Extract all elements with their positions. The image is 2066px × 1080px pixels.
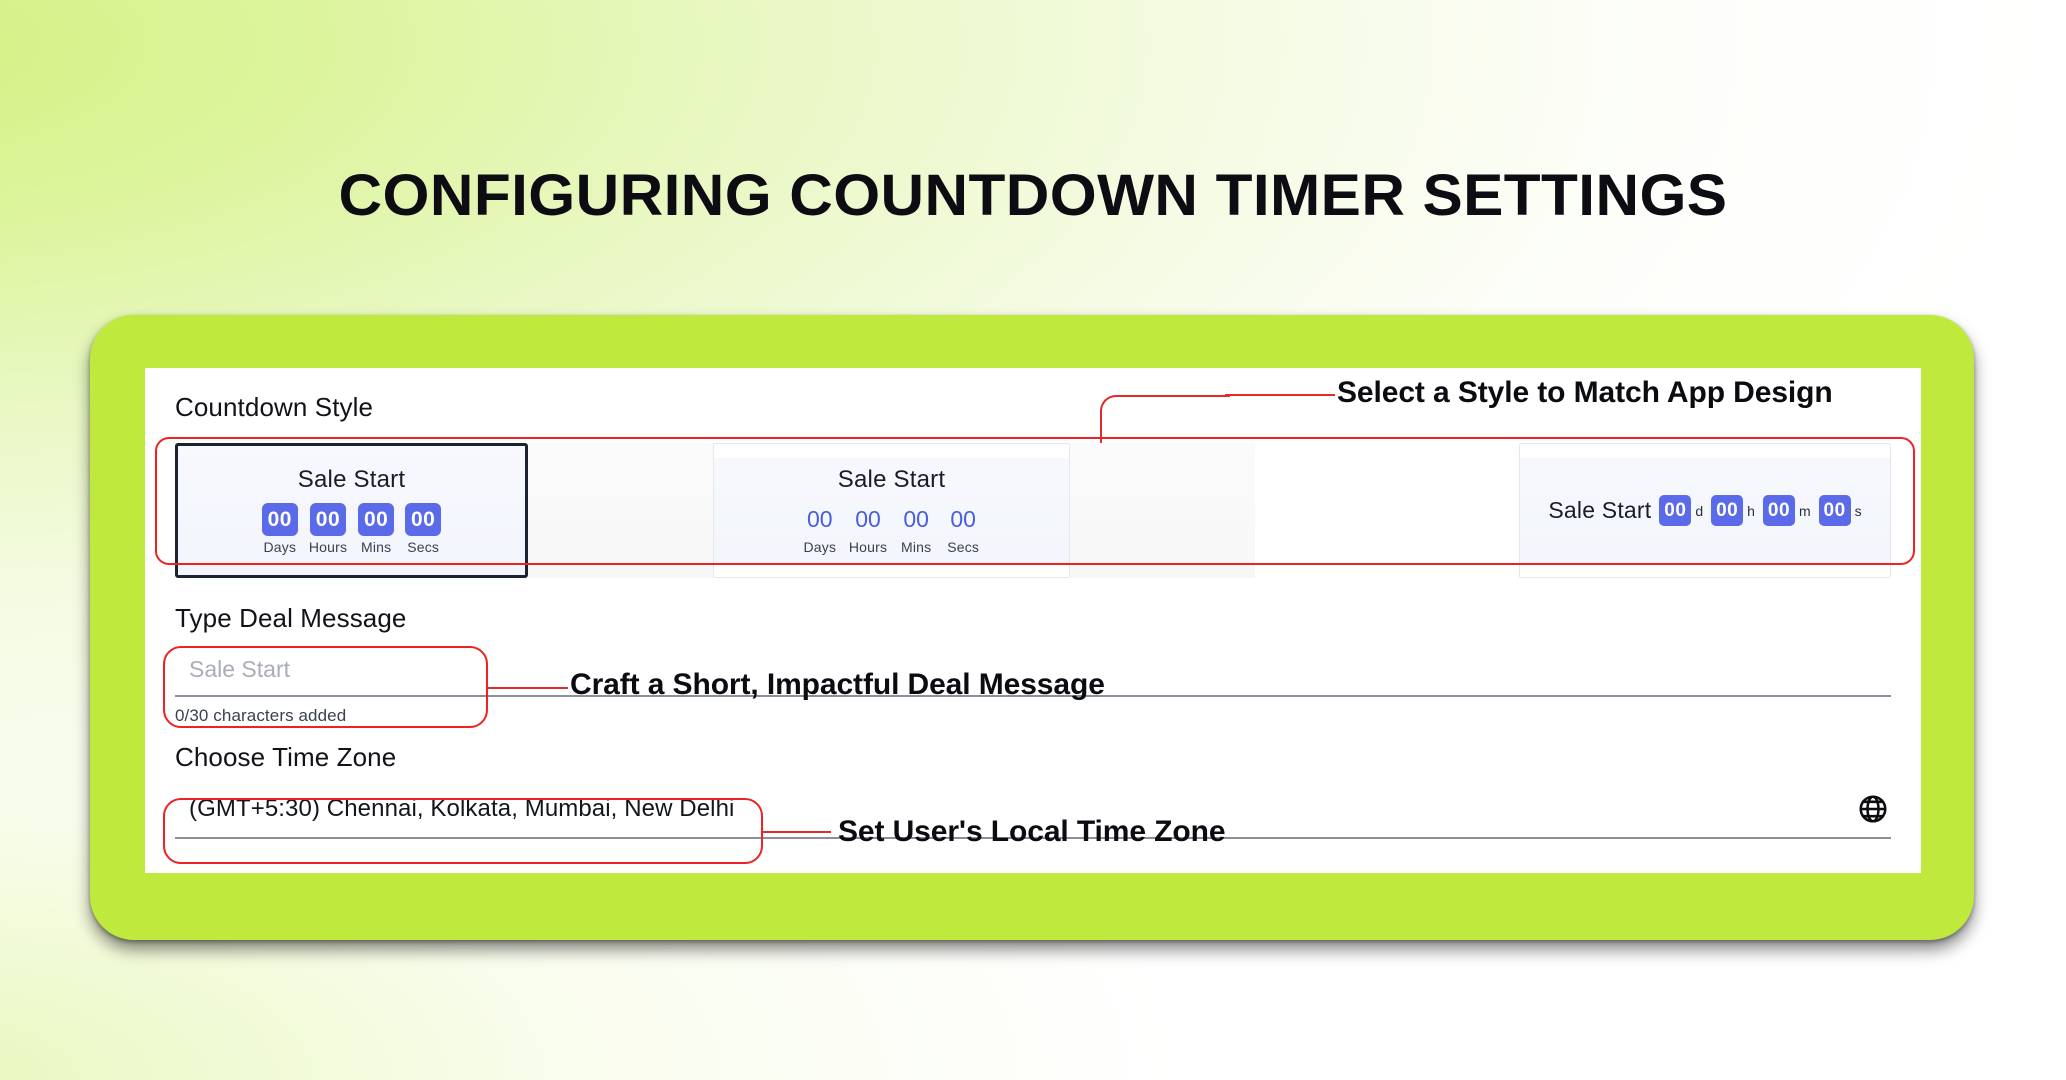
style-preview: Sale Start 00 Days 00 Hours 00 Mins xyxy=(714,458,1069,563)
globe-icon[interactable] xyxy=(1857,793,1889,825)
unit-value: 00 xyxy=(898,503,934,536)
unit-value: 00 xyxy=(262,503,298,536)
deal-message-counter: 0/30 characters added xyxy=(175,706,1891,726)
unit-value: 00 xyxy=(310,503,346,536)
page-title: CONFIGURING COUNTDOWN TIMER SETTINGS xyxy=(0,162,2066,229)
style-option-gap xyxy=(1070,443,1255,578)
style-preview-title: Sale Start xyxy=(838,466,945,494)
unit-hours: 00 h xyxy=(1711,495,1755,526)
unit-label: h xyxy=(1747,503,1755,519)
unit-label: Secs xyxy=(947,539,979,555)
style-preview-title: Sale Start xyxy=(298,466,405,494)
unit-secs: 00 Secs xyxy=(945,503,981,555)
style-option-plain-stacked[interactable]: Sale Start 00 Days 00 Hours 00 Mins xyxy=(713,443,1070,578)
unit-label: s xyxy=(1855,503,1862,519)
unit-days: 00 Days xyxy=(262,503,298,555)
unit-mins: 00 m xyxy=(1763,495,1811,526)
annotation-label-timezone: Set User's Local Time Zone xyxy=(838,815,1225,849)
style-option-boxed-stacked[interactable]: Sale Start 00 Days 00 Hours 00 Mins xyxy=(175,443,528,578)
style-preview: Sale Start 00 d 00 h 00 m 00 xyxy=(1520,458,1890,563)
unit-label: Hours xyxy=(849,539,887,555)
unit-label: Mins xyxy=(361,539,391,555)
style-preview-units: 00 Days 00 Hours 00 Mins 00 Secs xyxy=(802,503,981,555)
unit-days: 00 d xyxy=(1659,495,1703,526)
style-option-boxed-inline[interactable]: Sale Start 00 d 00 h 00 m 00 xyxy=(1519,443,1891,578)
unit-label: Secs xyxy=(407,539,439,555)
unit-value: 00 xyxy=(802,503,838,536)
unit-secs: 00 Secs xyxy=(405,503,441,555)
style-preview-title: Sale Start xyxy=(1548,497,1651,524)
settings-panel: Countdown Style Sale Start 00 Days 00 Ho… xyxy=(145,368,1921,873)
unit-value: 00 xyxy=(850,503,886,536)
unit-value: 00 xyxy=(1763,495,1795,526)
style-preview-units: 00 Days 00 Hours 00 Mins 00 Secs xyxy=(262,503,441,555)
style-preview-inline: Sale Start 00 d 00 h 00 m 00 xyxy=(1548,495,1861,526)
deal-message-section: Type Deal Message 0/30 characters added xyxy=(175,603,1891,726)
style-option-gap xyxy=(528,443,713,578)
unit-value: 00 xyxy=(405,503,441,536)
unit-label: Days xyxy=(263,539,296,555)
unit-mins: 00 Mins xyxy=(358,503,394,555)
unit-mins: 00 Mins xyxy=(898,503,934,555)
annotation-label-deal: Craft a Short, Impactful Deal Message xyxy=(570,668,1105,702)
deal-message-label: Type Deal Message xyxy=(175,603,1891,634)
unit-label: m xyxy=(1799,503,1811,519)
unit-hours: 00 Hours xyxy=(309,503,347,555)
unit-value: 00 xyxy=(358,503,394,536)
style-preview: Sale Start 00 Days 00 Hours 00 Mins xyxy=(178,446,525,575)
annotation-label-style: Select a Style to Match App Design xyxy=(1337,376,1833,410)
unit-label: d xyxy=(1695,503,1703,519)
unit-value: 00 xyxy=(1659,495,1691,526)
unit-hours: 00 Hours xyxy=(849,503,887,555)
unit-value: 00 xyxy=(1711,495,1743,526)
time-zone-label: Choose Time Zone xyxy=(175,742,1891,773)
countdown-style-options: Sale Start 00 Days 00 Hours 00 Mins xyxy=(175,443,1891,578)
unit-label: Mins xyxy=(901,539,931,555)
unit-days: 00 Days xyxy=(802,503,838,555)
unit-label: Days xyxy=(803,539,836,555)
unit-value: 00 xyxy=(1819,495,1851,526)
unit-value: 00 xyxy=(945,503,981,536)
unit-secs: 00 s xyxy=(1819,495,1862,526)
unit-label: Hours xyxy=(309,539,347,555)
